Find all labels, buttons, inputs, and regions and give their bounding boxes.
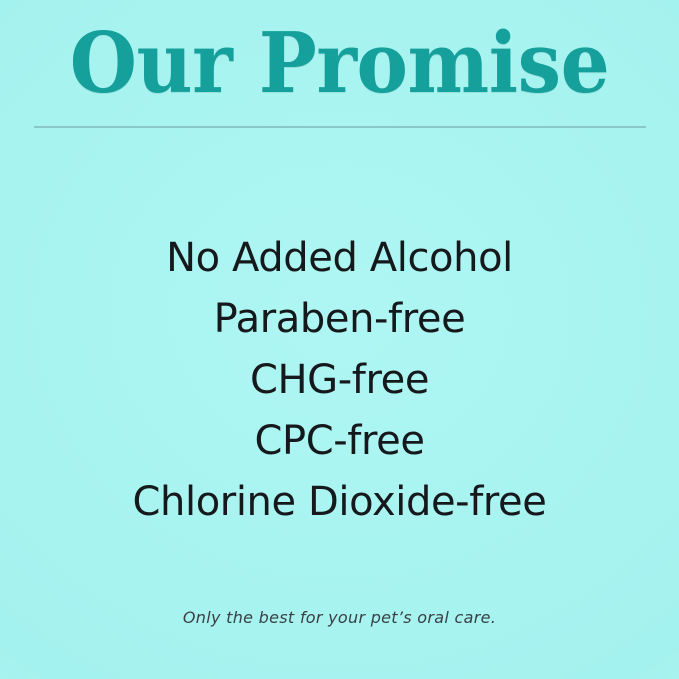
list-item: CHG-free <box>0 350 679 411</box>
title-block: Our Promise <box>0 0 679 128</box>
promise-list: No Added Alcohol Paraben-free CHG-free C… <box>0 228 679 533</box>
list-item: No Added Alcohol <box>0 228 679 289</box>
footer-tagline: Only the best for your pet’s oral care. <box>0 608 679 627</box>
our-promise-card: Our Promise No Added Alcohol Paraben-fre… <box>0 0 679 679</box>
title-divider <box>34 126 646 128</box>
list-item: CPC-free <box>0 411 679 472</box>
list-item: Paraben-free <box>0 289 679 350</box>
list-item: Chlorine Dioxide-free <box>0 472 679 533</box>
page-title: Our Promise <box>24 22 655 105</box>
